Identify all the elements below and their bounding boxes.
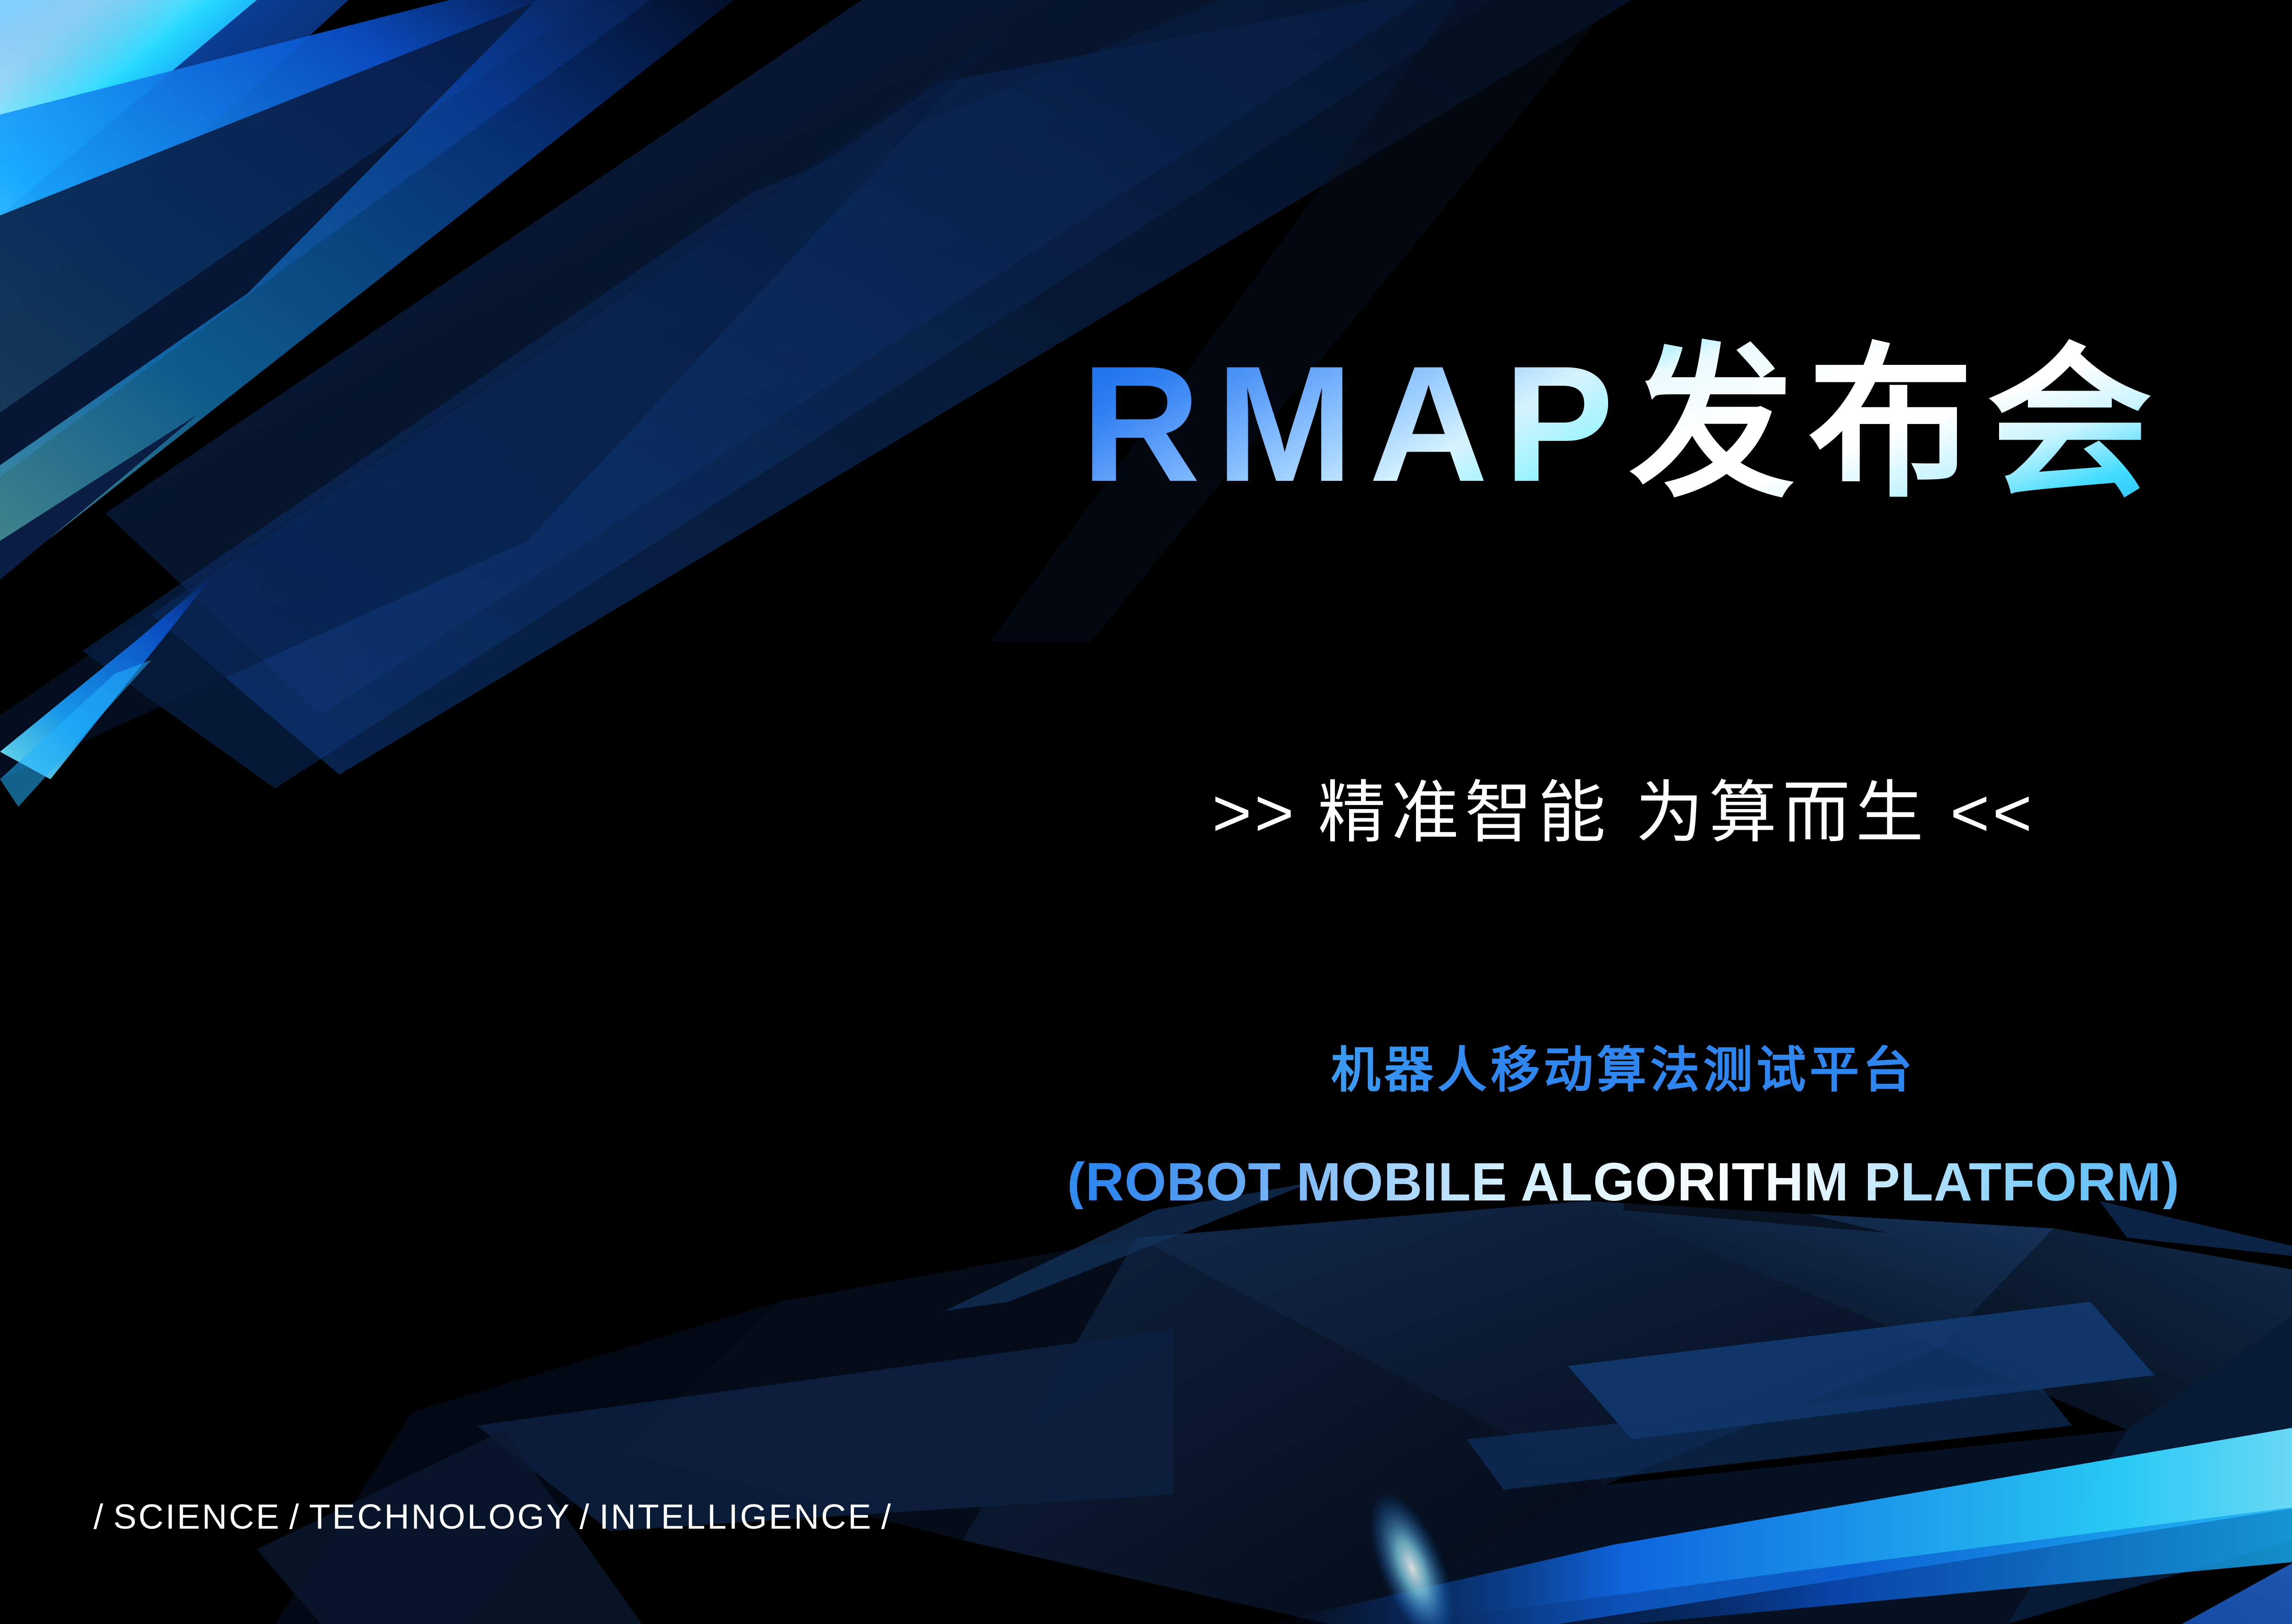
poster-canvas: 上海机器人产业技术研究院 SHANGHAI ROBOT INDUSTRIAL T… [0, 0, 2292, 1624]
platform-name-english: (ROBOT MOBILE ALGORITHM PLATFORM) [16, 1155, 2292, 1209]
tagline-left-chevron: >> [1212, 775, 1297, 851]
tagline-text: 精准智能 为算而生 [1318, 775, 1929, 851]
tagline-right-chevron: << [1950, 775, 2035, 851]
tagline: >>精准智能 为算而生<< [0, 779, 2292, 847]
footer-keywords: /SCIENCE/TECHNOLOGY/INTELLIGENCE/ [85, 1500, 901, 1535]
footer-keyword-science: SCIENCE [113, 1497, 281, 1536]
page-title: RMAP发布会 [0, 341, 2292, 506]
title-cjk: 发布会 [1629, 332, 2165, 516]
footer-keyword-intelligence: INTELLIGENCE [599, 1497, 873, 1536]
footer-slash-trail: / [881, 1497, 893, 1536]
title-latin: RMAP [1081, 332, 1630, 516]
platform-name-chinese: 机器人移动算法测试平台 [0, 1045, 2292, 1095]
footer-slash-lead: / [94, 1497, 105, 1536]
footer-keyword-technology: TECHNOLOGY [309, 1497, 571, 1536]
footer-slash-2: / [579, 1497, 591, 1536]
footer-slash-1: / [289, 1497, 301, 1536]
